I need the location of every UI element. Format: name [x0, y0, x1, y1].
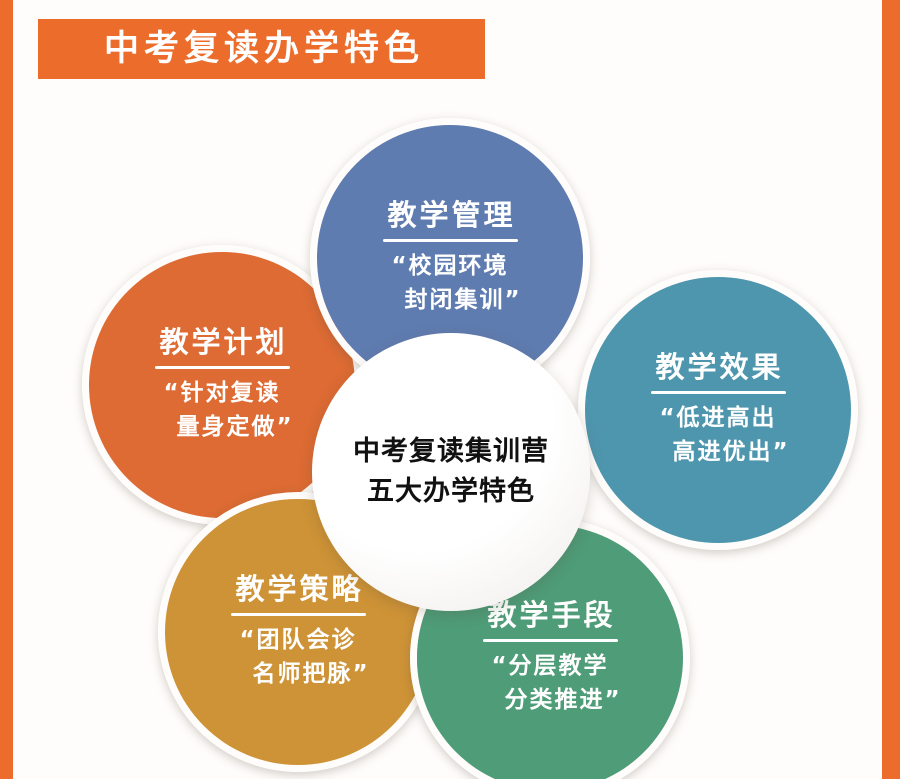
petal-line-2: 量身定做”: [150, 411, 293, 444]
petal-divider: [483, 639, 618, 642]
petal-title: 教学手段: [484, 599, 615, 632]
infographic-page: 中考复读办学特色 教学计划 “针对复读 量身定做” 教学策略 “团队会诊 名师把…: [0, 0, 900, 779]
petal-title: 教学效果: [652, 351, 783, 384]
petal-line-2: 分类推进”: [478, 684, 621, 717]
petal-diagram: 教学计划 “针对复读 量身定做” 教学策略 “团队会诊 名师把脉” 教学效果 “…: [0, 0, 900, 779]
petal-line-1: “团队会诊: [239, 624, 356, 657]
petal-divider: [651, 391, 786, 394]
petal-divider: [383, 239, 518, 242]
petal-divider: [231, 613, 366, 616]
petal-line-2: 名师把脉”: [226, 658, 369, 691]
center-hub: 中考复读集训营 五大办学特色: [312, 333, 590, 611]
petal-line-1: “校园环境: [391, 250, 508, 283]
petal-divider: [155, 366, 290, 369]
petal-teaching-effect[interactable]: 教学效果 “低进高出 高进优出”: [578, 270, 858, 550]
petal-line-1: “低进高出: [659, 402, 776, 435]
petal-title: 教学管理: [384, 199, 515, 232]
petal-content: 教学效果 “低进高出 高进优出”: [585, 277, 851, 543]
petal-line-2: 高进优出”: [646, 436, 789, 469]
hub-line-2: 五大办学特色: [367, 472, 535, 513]
petal-line-2: 封闭集训”: [378, 284, 521, 317]
petal-line-1: “分层教学: [491, 650, 608, 683]
petal-line-1: “针对复读: [163, 377, 280, 410]
petal-title: 教学计划: [156, 326, 287, 359]
petal-title: 教学策略: [232, 573, 363, 606]
hub-line-1: 中考复读集训营: [353, 432, 549, 473]
